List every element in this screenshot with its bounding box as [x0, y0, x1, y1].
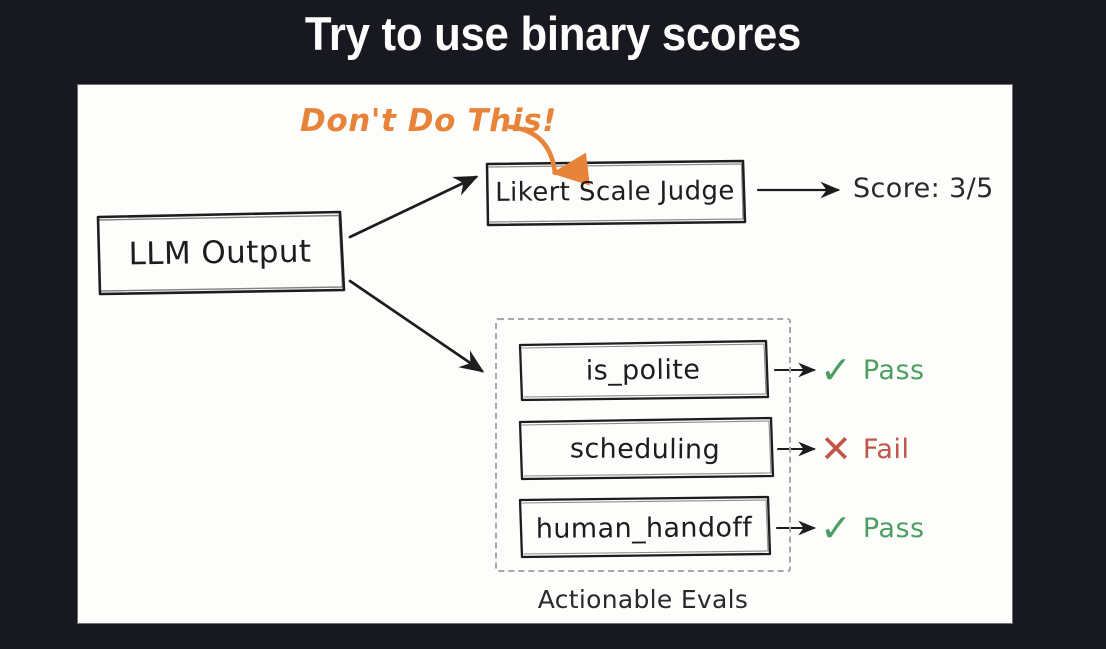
verdict-human-handoff: ✓ Pass: [820, 509, 925, 547]
slide-root: Try to use binary scores: [0, 0, 1106, 649]
eval-node-human-handoff: human_handoff: [519, 498, 769, 558]
verdict-scheduling: ✕ Fail: [820, 430, 909, 468]
verdict-label: Fail: [863, 434, 910, 465]
page-title: Try to use binary scores: [39, 2, 1068, 66]
likert-scale-judge-node: Likert Scale Judge: [486, 160, 744, 224]
eval-node-is-polite: is_polite: [519, 340, 768, 401]
cross-icon: ✕: [820, 430, 852, 468]
check-icon: ✓: [820, 351, 852, 389]
whiteboard-canvas: Actionable Evals LLM Output Likert Scale…: [78, 85, 1012, 623]
verdict-label: Pass: [863, 355, 925, 386]
actionable-evals-caption: Actionable Evals: [495, 585, 791, 614]
arrow-llm-to-evals: [350, 281, 482, 371]
verdict-is-polite: ✓ Pass: [820, 351, 925, 389]
llm-output-node: LLM Output: [96, 210, 343, 296]
dont-do-this-annotation: Don't Do This!: [300, 103, 557, 139]
check-icon: ✓: [820, 509, 852, 547]
verdict-label: Pass: [863, 513, 925, 544]
eval-node-scheduling: scheduling: [519, 419, 771, 479]
arrow-llm-to-likert: [350, 177, 476, 237]
likert-score-output: Score: 3/5: [853, 173, 994, 204]
